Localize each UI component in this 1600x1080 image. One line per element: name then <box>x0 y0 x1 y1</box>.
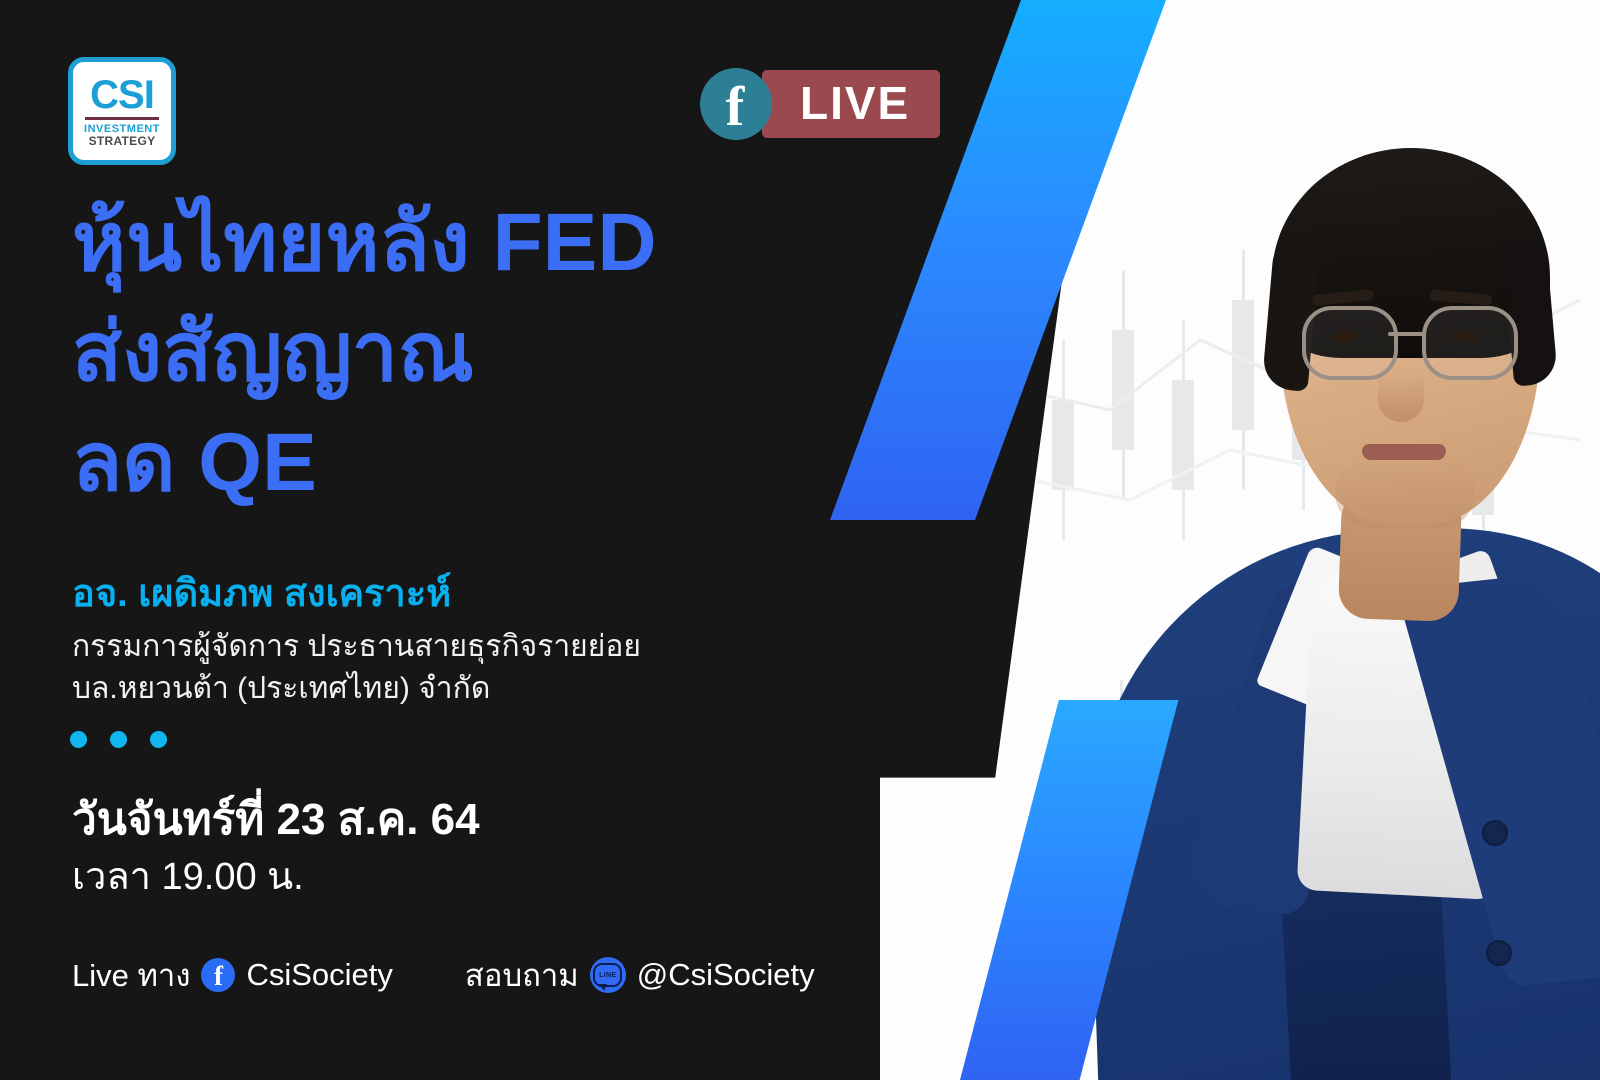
page-title: หุ้นไทยหลัง FED ส่งสัญญาณ ลด QE <box>72 188 832 518</box>
line-icon[interactable]: LINE <box>590 957 626 993</box>
logo-subtitle-strategy: STRATEGY <box>89 135 156 148</box>
divider-dots <box>70 731 167 748</box>
event-date: วันจันทร์ที่ 23 ส.ค. 64 <box>72 792 480 848</box>
divider-dot <box>150 731 167 748</box>
divider-dot <box>110 731 127 748</box>
speaker-role-line-1: กรรมการผู้จัดการ ประธานสายธุรกิจรายย่อย <box>72 626 641 668</box>
facebook-small-glyph: f <box>214 964 223 989</box>
logo-wordmark: CSI <box>90 76 154 114</box>
facebook-live-badge[interactable]: f LIVE <box>700 68 940 140</box>
headline-line-1: หุ้นไทยหลัง FED <box>72 188 832 298</box>
contact-prefix-label: สอบถาม <box>465 950 579 1000</box>
speaker-role-line-2: บล.หยวนต้า (ประเทศไทย) จำกัด <box>72 668 641 710</box>
divider-dot <box>70 731 87 748</box>
csi-logo[interactable]: CSI INVESTMENT STRATEGY <box>68 57 176 165</box>
speaker-role: กรรมการผู้จัดการ ประธานสายธุรกิจรายย่อย … <box>72 626 641 710</box>
poster-canvas: CSI INVESTMENT STRATEGY f LIVE หุ้นไทยหล… <box>0 0 1600 1080</box>
event-time: เวลา 19.00 น. <box>72 852 304 902</box>
line-bubble-shape: LINE <box>593 963 622 987</box>
speaker-name: อจ. เผดิมภพ สงเคราะห์ <box>72 572 451 616</box>
speaker-portrait <box>1130 60 1600 1080</box>
facebook-group[interactable]: Live ทาง f CsiSociety <box>72 950 393 1000</box>
facebook-small-icon[interactable]: f <box>201 958 235 992</box>
headline-line-3: ลด QE <box>72 408 832 518</box>
line-group[interactable]: สอบถาม LINE @CsiSociety <box>465 950 815 1000</box>
live-label: LIVE <box>800 80 910 126</box>
facebook-handle[interactable]: CsiSociety <box>246 957 392 993</box>
line-handle[interactable]: @CsiSociety <box>637 957 815 993</box>
social-row: Live ทาง f CsiSociety สอบถาม LINE @CsiSo… <box>72 950 815 1000</box>
line-icon-label: LINE <box>599 972 616 979</box>
live-prefix-label: Live ทาง <box>72 950 190 1000</box>
headline-line-2: ส่งสัญญาณ <box>72 298 832 408</box>
logo-divider <box>85 117 159 120</box>
facebook-icon[interactable]: f <box>700 68 772 140</box>
live-badge-pill: LIVE <box>762 70 940 138</box>
facebook-glyph: f <box>726 81 745 133</box>
